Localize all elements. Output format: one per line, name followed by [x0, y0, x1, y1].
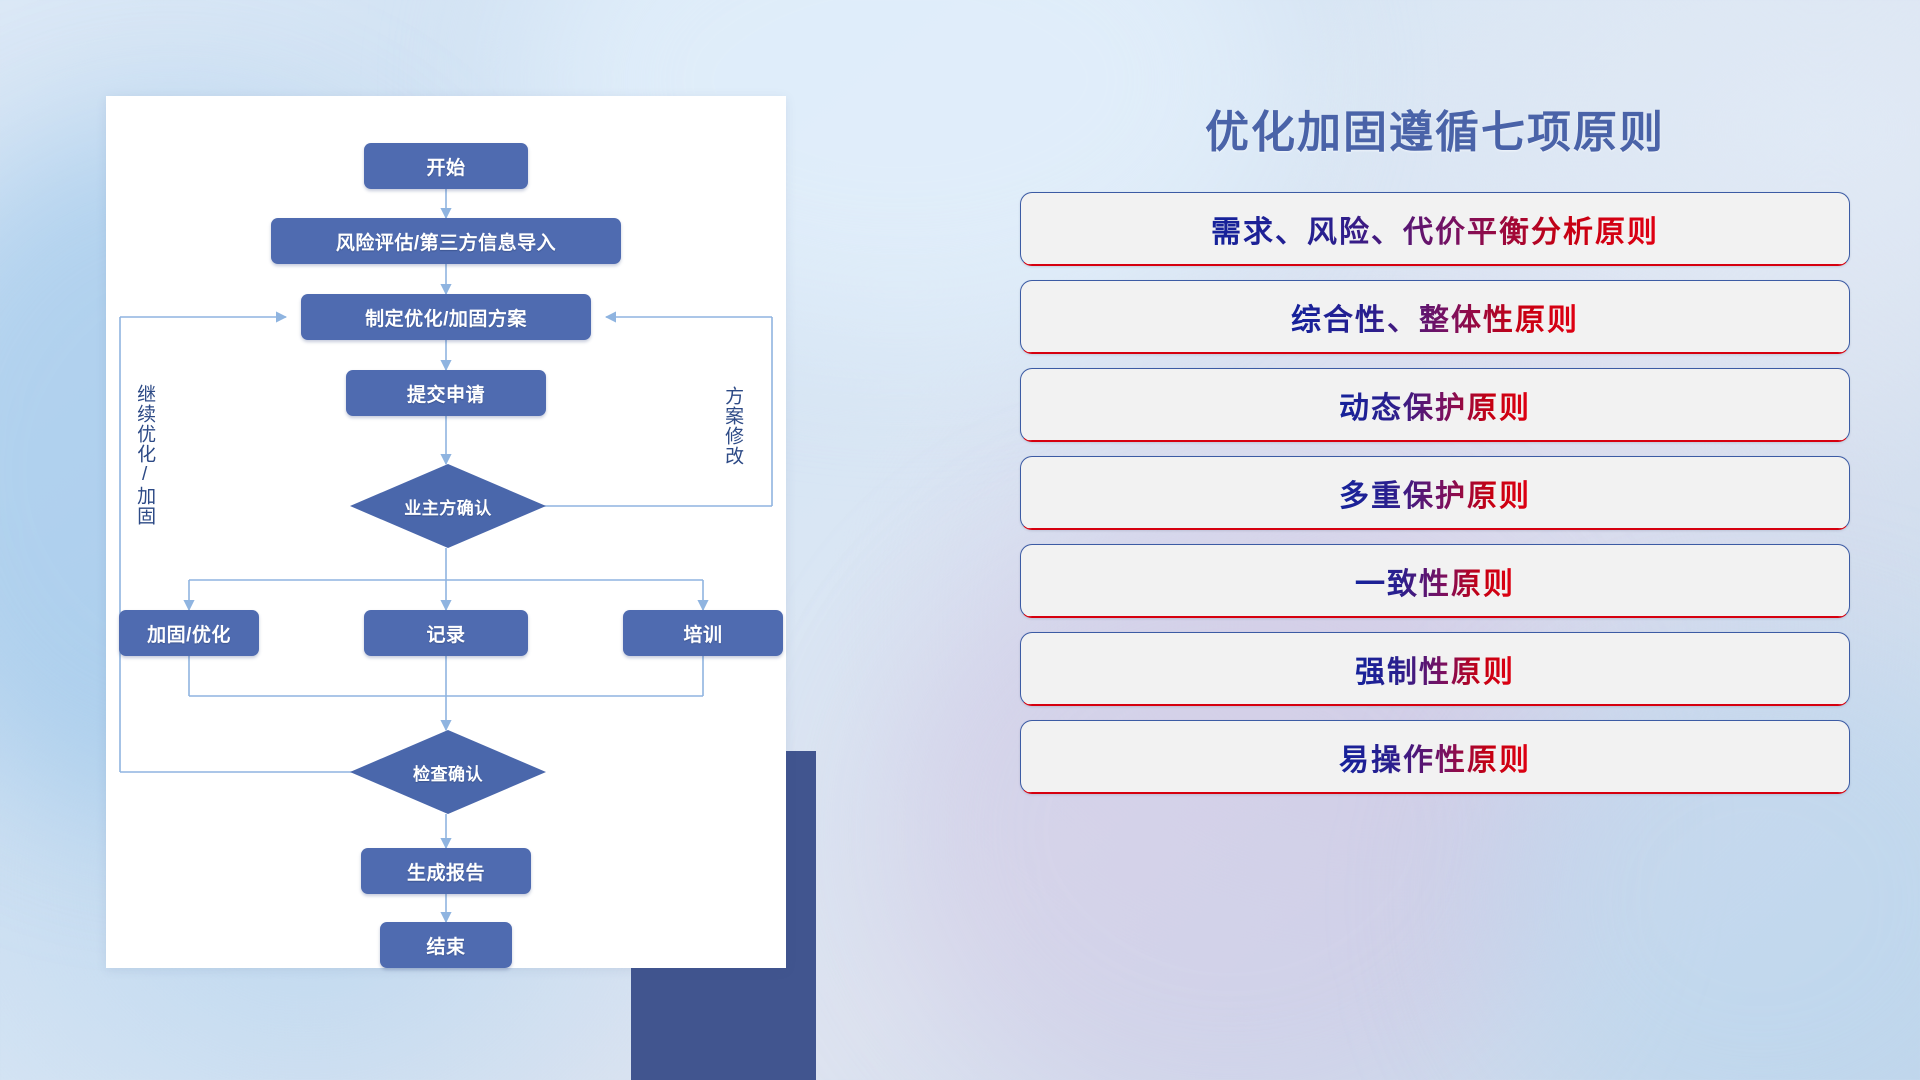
principle-card-4[interactable]: 多重保护原则 — [1020, 456, 1850, 530]
flow-node-start[interactable]: 开始 — [364, 143, 528, 189]
flow-node-label: 记录 — [426, 620, 465, 647]
flow-edge-label-right-text: 方案修改 — [722, 386, 743, 466]
flow-node-training[interactable]: 培训 — [623, 610, 783, 656]
page-title: 优化加固遵循七项原则 — [1020, 96, 1850, 160]
flow-edge-label-right: 方案修改 — [722, 386, 742, 466]
flow-node-generate-report[interactable]: 生成报告 — [361, 848, 531, 894]
principle-card-6[interactable]: 强制性原则 — [1020, 632, 1850, 706]
flow-node-plan[interactable]: 制定优化/加固方案 — [301, 294, 591, 340]
flow-node-label: 检查确认 — [413, 760, 483, 785]
flow-node-submit-application[interactable]: 提交申请 — [346, 370, 546, 416]
principle-card-7[interactable]: 易操作性原则 — [1020, 720, 1850, 794]
principle-card-3[interactable]: 动态保护原则 — [1020, 368, 1850, 442]
flow-edge-label-left-text: 继续优化/加固 — [134, 384, 155, 526]
flow-node-label: 开始 — [426, 153, 465, 180]
flow-edge-label-left: 继续优化/加固 — [134, 384, 154, 526]
flow-node-label: 生成报告 — [407, 858, 485, 885]
flowchart-panel: 开始 风险评估/第三方信息导入 制定优化/加固方案 提交申请 业主方确认 加固/… — [106, 96, 786, 968]
flow-node-label: 提交申请 — [407, 380, 485, 407]
flow-node-label: 制定优化/加固方案 — [365, 304, 527, 331]
principles-panel: 优化加固遵循七项原则 需求、风险、代价平衡分析原则 综合性、整体性原则 动态保护… — [1020, 96, 1850, 1016]
flowchart-card: 开始 风险评估/第三方信息导入 制定优化/加固方案 提交申请 业主方确认 加固/… — [106, 96, 786, 968]
flow-node-risk-assessment[interactable]: 风险评估/第三方信息导入 — [271, 218, 621, 264]
flow-node-end[interactable]: 结束 — [380, 922, 512, 968]
flow-node-label: 业主方确认 — [404, 494, 492, 519]
principle-label: 动态保护原则 — [1339, 383, 1531, 427]
principle-label: 易操作性原则 — [1339, 735, 1531, 779]
flow-node-record[interactable]: 记录 — [364, 610, 528, 656]
principle-card-5[interactable]: 一致性原则 — [1020, 544, 1850, 618]
flow-node-label: 风险评估/第三方信息导入 — [336, 228, 556, 255]
principle-card-2[interactable]: 综合性、整体性原则 — [1020, 280, 1850, 354]
flow-node-reinforce[interactable]: 加固/优化 — [119, 610, 259, 656]
flow-node-label: 结束 — [426, 932, 465, 959]
flow-node-label: 加固/优化 — [147, 620, 231, 647]
principle-label: 多重保护原则 — [1339, 471, 1531, 515]
principle-label: 综合性、整体性原则 — [1291, 295, 1579, 339]
principle-label: 需求、风险、代价平衡分析原则 — [1211, 207, 1659, 251]
principle-label: 一致性原则 — [1355, 559, 1515, 603]
principle-label: 强制性原则 — [1355, 647, 1515, 691]
flow-node-label: 培训 — [683, 620, 722, 647]
principle-card-1[interactable]: 需求、风险、代价平衡分析原则 — [1020, 192, 1850, 266]
